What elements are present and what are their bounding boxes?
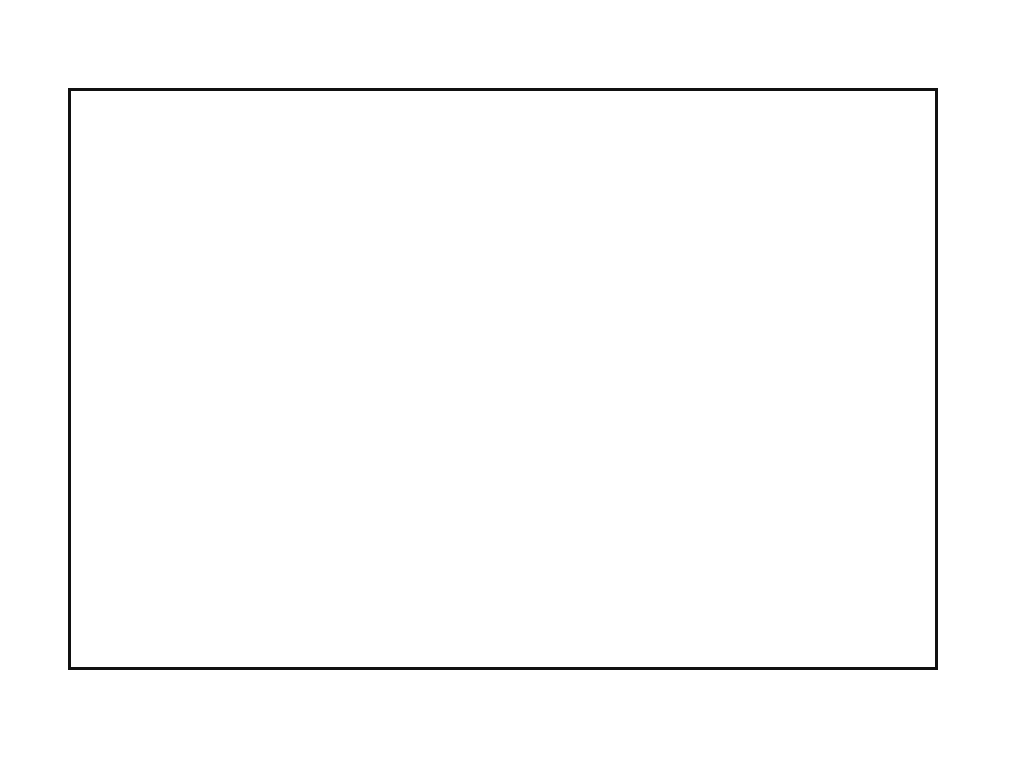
- chart-page: [0, 0, 1024, 768]
- heatmap-plot-area: [68, 88, 938, 670]
- colorbar: [944, 300, 974, 460]
- x-axis: [68, 670, 944, 730]
- heatmap-cells: [71, 91, 935, 667]
- y-axis: [0, 88, 68, 670]
